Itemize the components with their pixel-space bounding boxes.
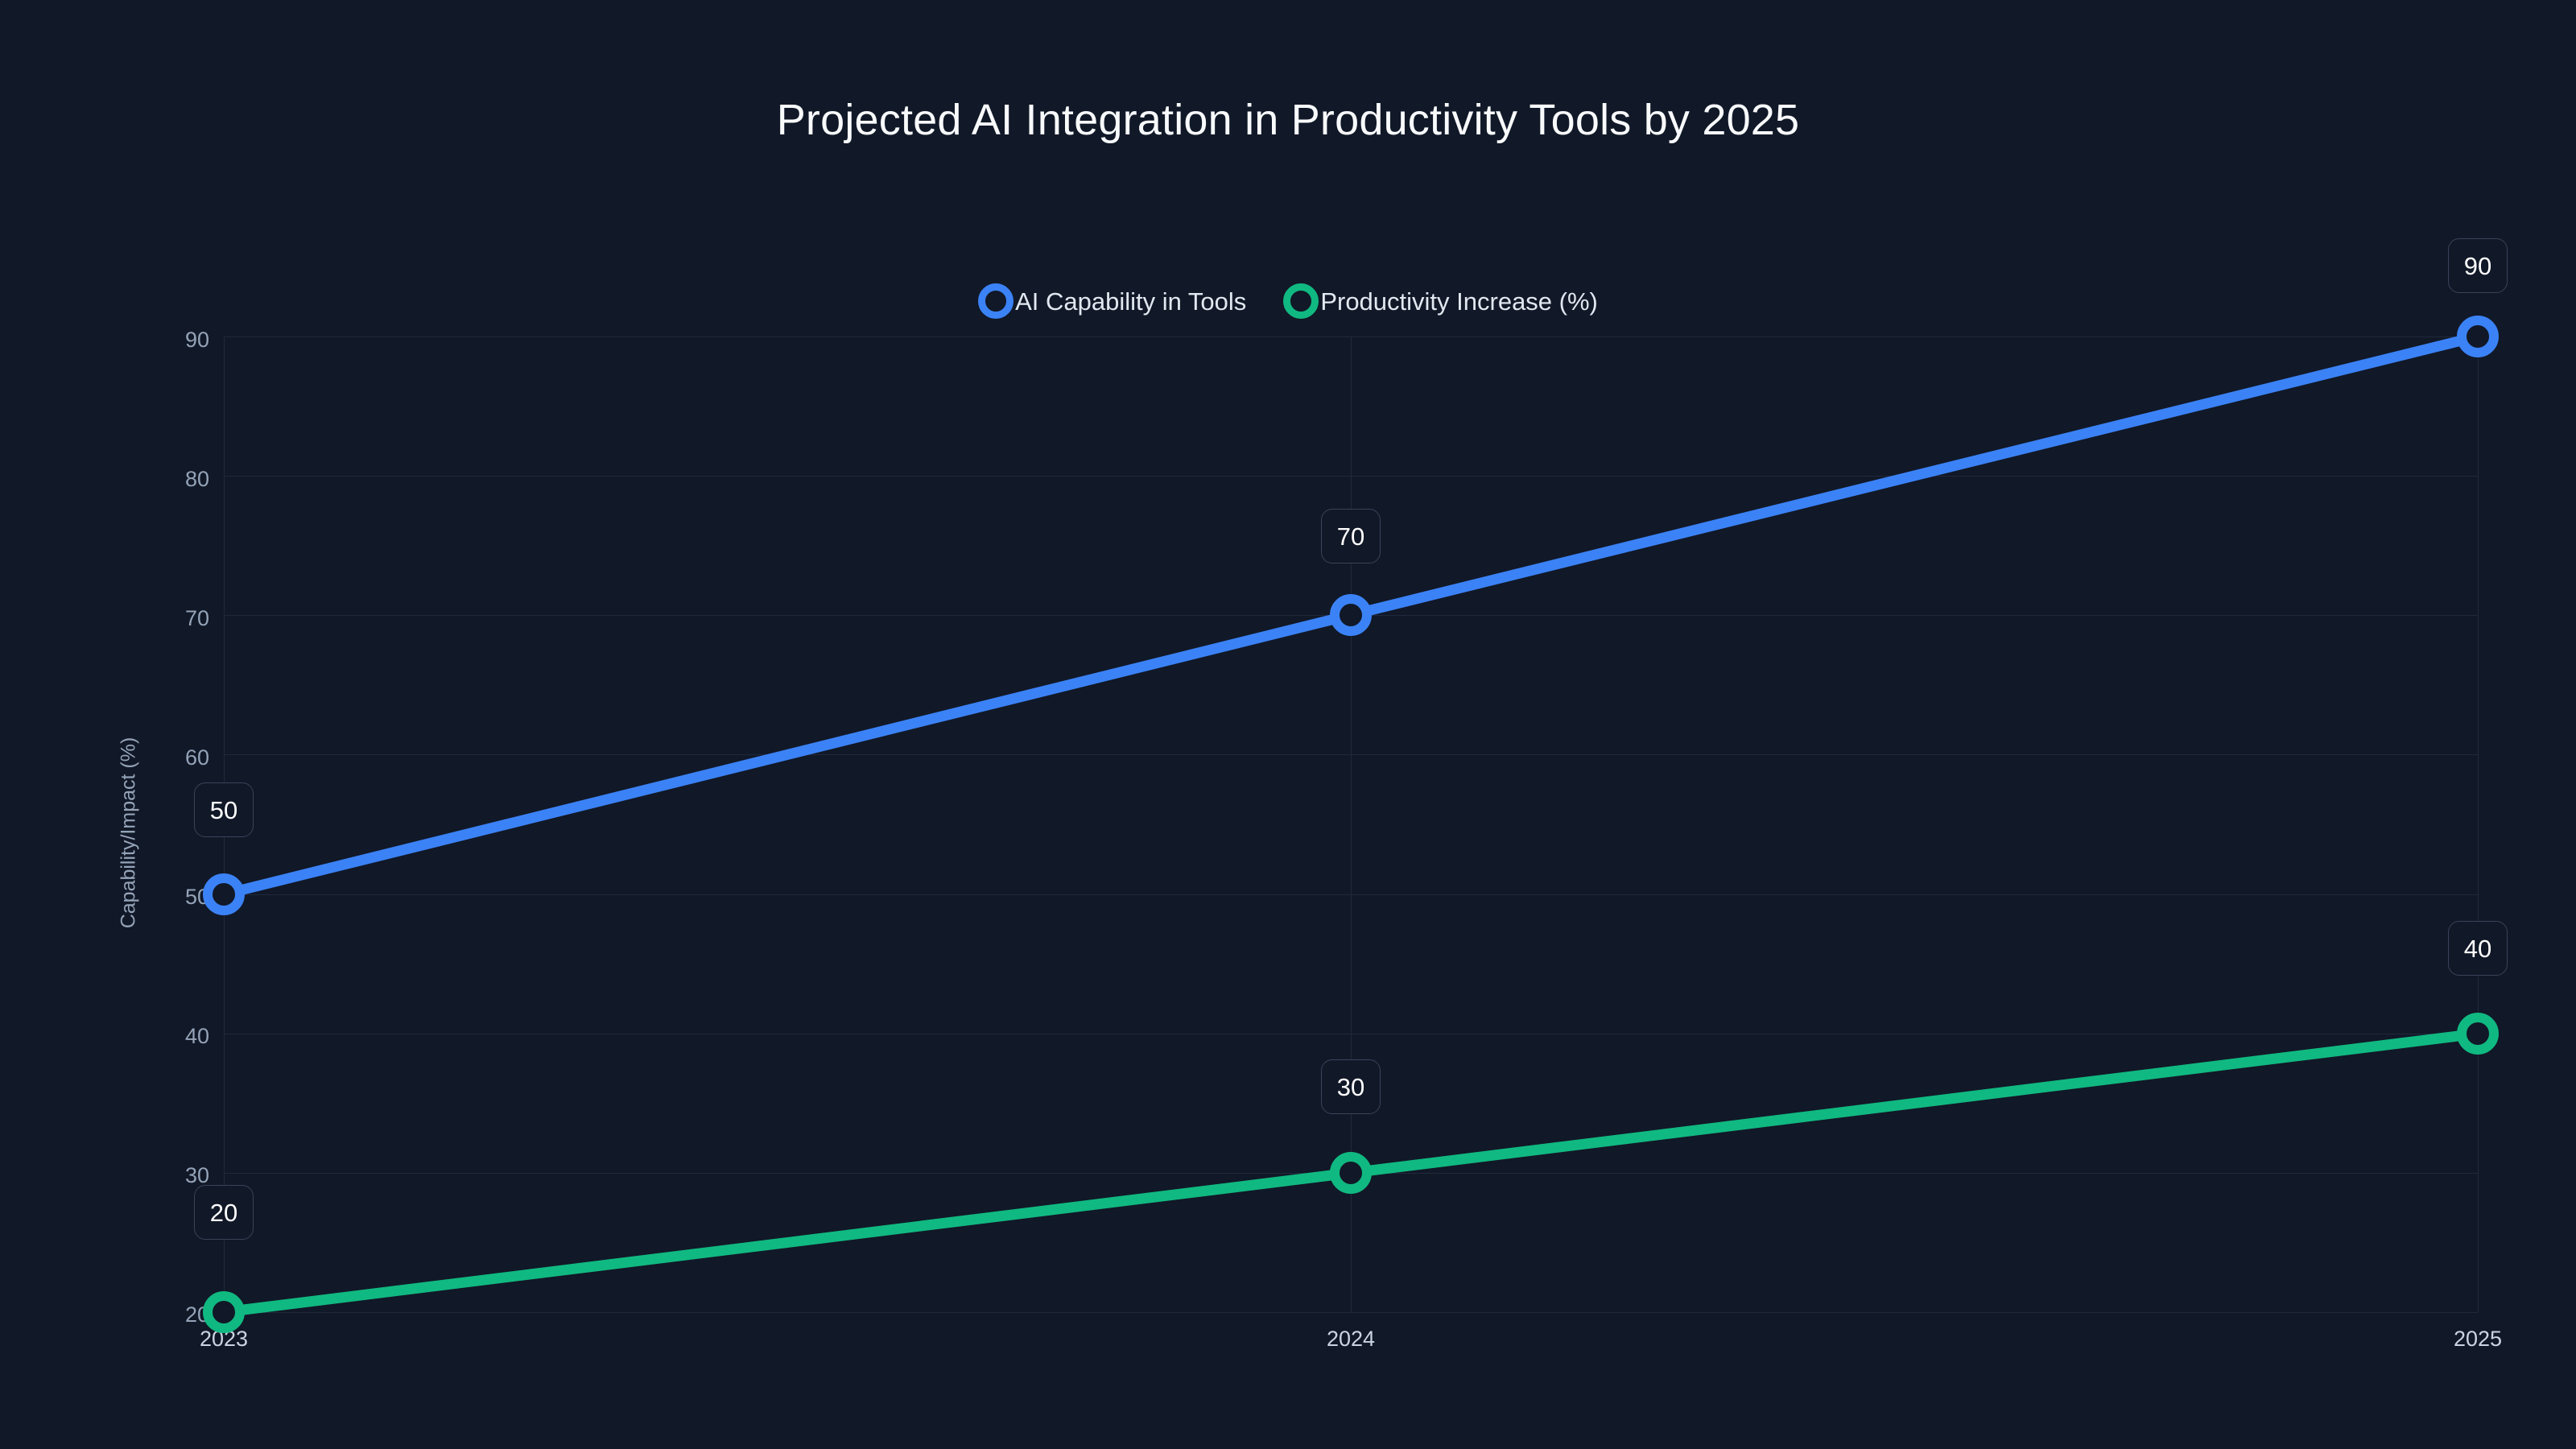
data-point-productivity-increase-2024[interactable] bbox=[1335, 1157, 1367, 1189]
y-tick-label-80: 80 bbox=[113, 469, 209, 490]
series-graphics bbox=[224, 336, 2478, 1312]
x-tick-label-2024: 2024 bbox=[1254, 1328, 1447, 1350]
legend-label-productivity-increase: Productivity Increase (%) bbox=[1320, 289, 1598, 314]
data-label-productivity-increase-2024: 30 bbox=[1321, 1059, 1381, 1114]
chart-container: Projected AI Integration in Productivity… bbox=[0, 0, 2576, 1449]
y-tick-label-30: 30 bbox=[113, 1165, 209, 1187]
data-point-productivity-increase-2025[interactable] bbox=[2462, 1018, 2494, 1050]
data-label-productivity-increase-2025: 40 bbox=[2448, 921, 2508, 976]
data-label-ai-capability-2023: 50 bbox=[194, 782, 254, 837]
data-point-ai-capability-2024[interactable] bbox=[1335, 599, 1367, 631]
legend-item-ai-capability[interactable]: AI Capability in Tools bbox=[978, 283, 1246, 319]
y-tick-label-20: 20 bbox=[113, 1304, 209, 1326]
chart-legend: AI Capability in Tools Productivity Incr… bbox=[0, 283, 2576, 319]
plot-area: 50 70 90 20 30 40 bbox=[224, 336, 2478, 1312]
gridline-vertical-2025 bbox=[2478, 336, 2479, 1312]
y-tick-label-70: 70 bbox=[113, 608, 209, 630]
data-label-productivity-increase-2023: 20 bbox=[194, 1185, 254, 1240]
ring-marker-icon bbox=[978, 283, 1013, 319]
chart-title: Projected AI Integration in Productivity… bbox=[0, 95, 2576, 145]
data-point-ai-capability-2025[interactable] bbox=[2462, 320, 2494, 353]
x-tick-label-2025: 2025 bbox=[2381, 1328, 2574, 1350]
y-tick-label-40: 40 bbox=[113, 1026, 209, 1047]
ring-marker-icon bbox=[1283, 283, 1319, 319]
legend-item-productivity-increase[interactable]: Productivity Increase (%) bbox=[1283, 283, 1598, 319]
y-tick-label-60: 60 bbox=[113, 747, 209, 769]
data-label-ai-capability-2025: 90 bbox=[2448, 238, 2508, 293]
y-tick-label-90: 90 bbox=[113, 329, 209, 351]
y-axis-title: Capability/Impact (%) bbox=[118, 672, 141, 994]
data-point-productivity-increase-2023[interactable] bbox=[208, 1296, 240, 1328]
legend-label-ai-capability: AI Capability in Tools bbox=[1015, 289, 1246, 314]
y-tick-label-50: 50 bbox=[113, 886, 209, 908]
gridline-horizontal-20 bbox=[224, 1312, 2478, 1313]
data-label-ai-capability-2024: 70 bbox=[1321, 509, 1381, 563]
data-point-ai-capability-2023[interactable] bbox=[208, 878, 240, 910]
